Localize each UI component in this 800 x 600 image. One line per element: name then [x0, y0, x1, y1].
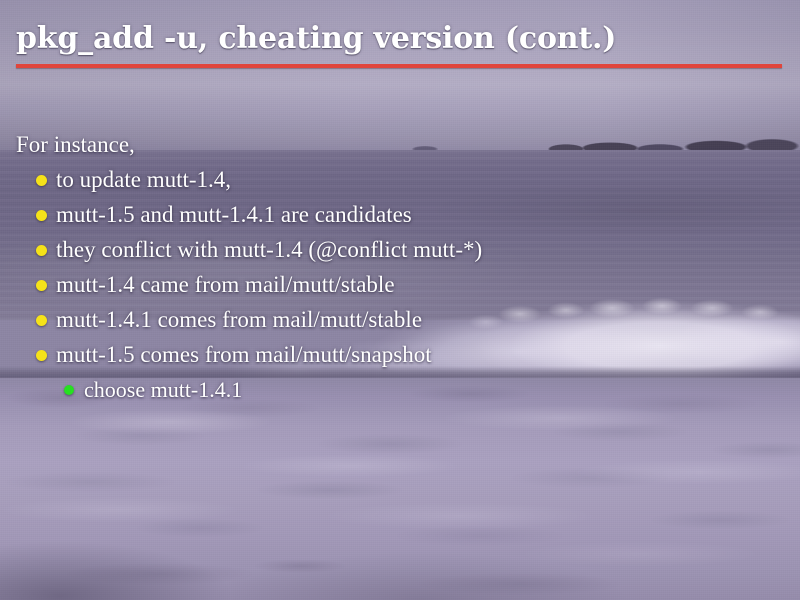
- bullet-dot-icon: [36, 350, 47, 361]
- slide-content: pkg_add -u, cheating version (cont.) For…: [0, 0, 800, 600]
- sub-bullet-item: choose mutt-1.4.1: [0, 372, 800, 407]
- bullet-label: mutt-1.5 comes from mail/mutt/snapshot: [56, 342, 432, 367]
- slide-title: pkg_add -u, cheating version (cont.): [16, 21, 616, 57]
- sub-bullet-label: choose mutt-1.4.1: [84, 377, 242, 402]
- bullet-list: to update mutt-1.4, mutt-1.5 and mutt-1.…: [0, 162, 800, 407]
- presentation-slide: pkg_add -u, cheating version (cont.) For…: [0, 0, 800, 600]
- bullet-label: they conflict with mutt-1.4 (@conflict m…: [56, 237, 482, 262]
- intro-text: For instance,: [0, 128, 800, 162]
- bullet-label: mutt-1.5 and mutt-1.4.1 are candidates: [56, 202, 412, 227]
- bullet-dot-icon: [36, 315, 47, 326]
- bullet-label: mutt-1.4.1 comes from mail/mutt/stable: [56, 307, 422, 332]
- bullet-dot-icon: [36, 210, 47, 221]
- bullet-label: to update mutt-1.4,: [56, 167, 231, 192]
- bullet-item: mutt-1.4.1 comes from mail/mutt/stable: [0, 302, 800, 337]
- bullet-label: mutt-1.4 came from mail/mutt/stable: [56, 272, 395, 297]
- bullet-dot-icon: [36, 245, 47, 256]
- bullet-item: mutt-1.5 comes from mail/mutt/snapshot: [0, 337, 800, 372]
- bullet-item: mutt-1.5 and mutt-1.4.1 are candidates: [0, 197, 800, 232]
- title-underline-rule: [16, 64, 782, 68]
- bullet-item: mutt-1.4 came from mail/mutt/stable: [0, 267, 800, 302]
- sub-bullet-dot-icon: [64, 385, 74, 395]
- slide-body: For instance, to update mutt-1.4, mutt-1…: [0, 128, 800, 407]
- bullet-item: to update mutt-1.4,: [0, 162, 800, 197]
- bullet-dot-icon: [36, 280, 47, 291]
- bullet-item: they conflict with mutt-1.4 (@conflict m…: [0, 232, 800, 267]
- bullet-dot-icon: [36, 175, 47, 186]
